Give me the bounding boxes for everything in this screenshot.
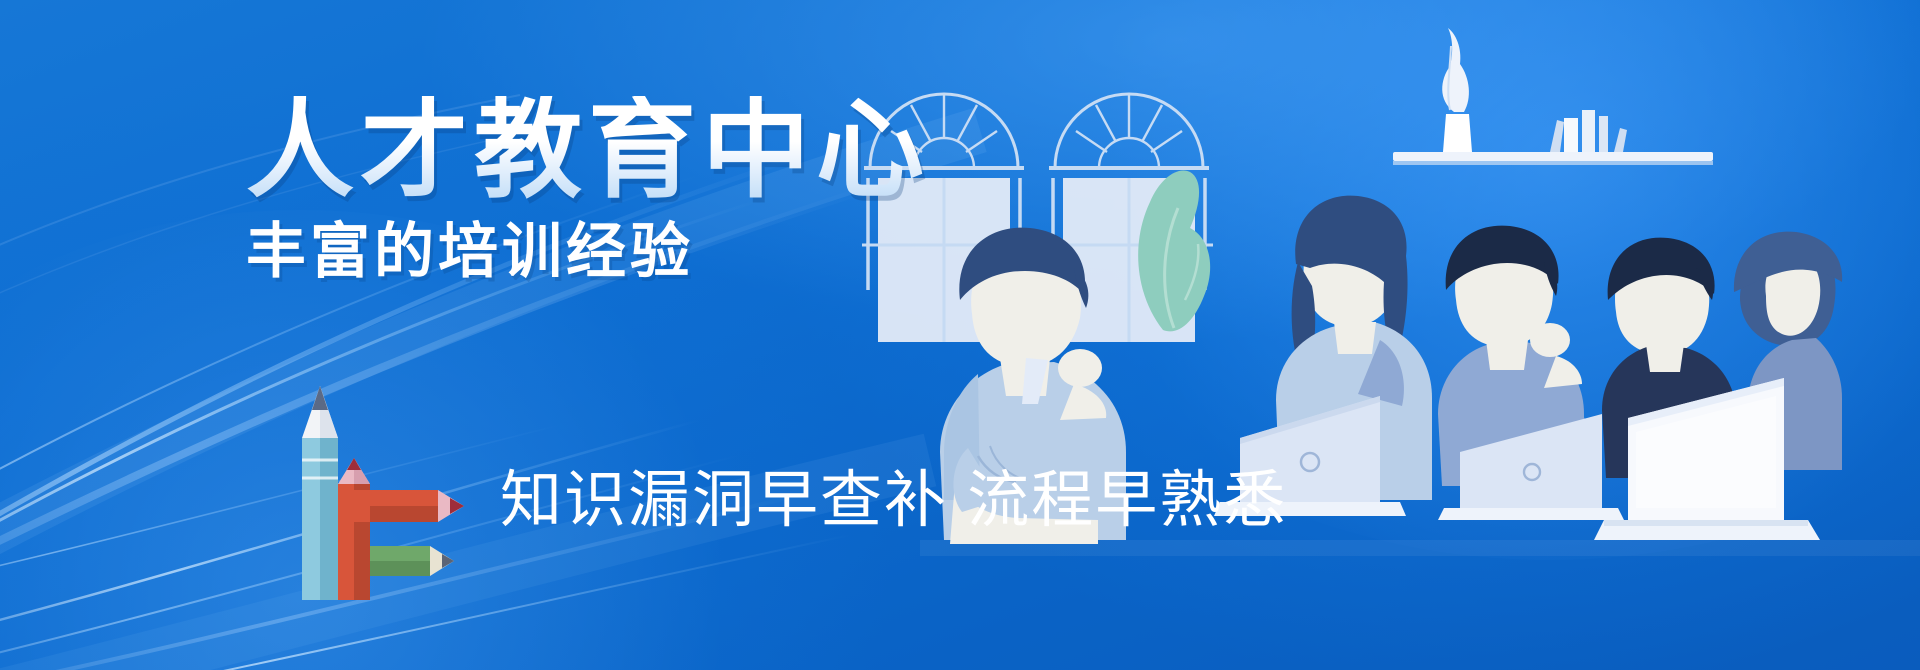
tagline-text: 知识漏洞早查补 流程早熟悉 (496, 470, 1291, 538)
page-subtitle: 丰富的培训经验 (246, 222, 930, 282)
pencil-red (338, 458, 464, 600)
tagline-highlight-bar (496, 516, 1291, 538)
headline-block: 人才教育中心 丰富的培训经验 (246, 96, 930, 282)
tagline-block: 知识漏洞早查补 流程早熟悉 (496, 470, 1291, 538)
shelf-books (1550, 110, 1627, 152)
wall-shelf (1393, 152, 1713, 165)
classroom-illustration (860, 0, 1920, 670)
page-title: 人才教育中心 (246, 96, 930, 204)
pencil-blue (302, 386, 338, 600)
education-center-banner: 人才教育中心 丰富的培训经验 知识漏洞早查补 流程早熟悉 (0, 0, 1920, 670)
shelf-potted-plant (1442, 28, 1472, 152)
